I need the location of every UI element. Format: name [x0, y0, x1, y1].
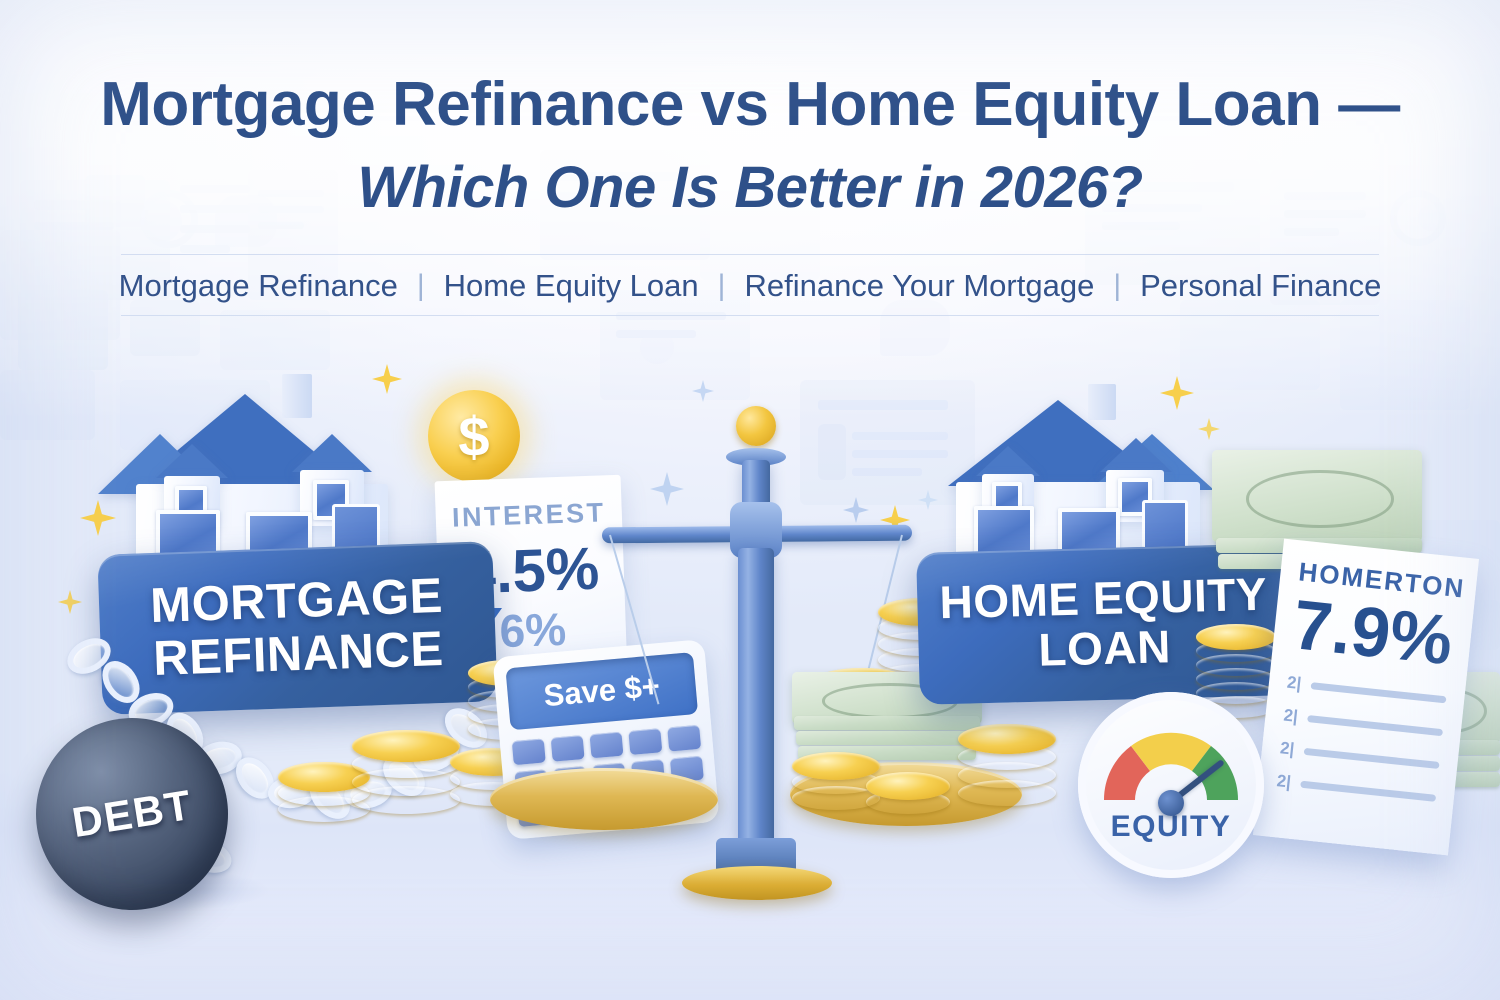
rate-document-row: 2|: [1276, 771, 1437, 808]
rate-row-tick: 2|: [1279, 738, 1295, 759]
tag-refinance-your-mortgage[interactable]: Refinance Your Mortgage: [725, 268, 1113, 304]
rate-document-row: 2|: [1286, 673, 1447, 710]
rate-row-bar: [1311, 682, 1447, 703]
page-title: Mortgage Refinance vs Home Equity Loan —…: [0, 62, 1500, 228]
tag-mortgage-refinance[interactable]: Mortgage Refinance: [100, 268, 417, 304]
title-line-1: Mortgage Refinance vs Home Equity Loan —: [100, 70, 1399, 139]
equity-gauge: EQUITY: [1078, 692, 1264, 878]
cash-bundle: [796, 731, 978, 745]
dollar-coin-icon: $: [428, 390, 520, 482]
calculator-key[interactable]: [512, 738, 546, 765]
rate-row-tick: 2|: [1276, 771, 1292, 792]
sparkle-icon: [80, 500, 116, 536]
sparkle-icon: [918, 490, 938, 510]
tag-personal-finance[interactable]: Personal Finance: [1121, 268, 1400, 304]
balance-scale: [620, 398, 920, 908]
title-line-2: Which One Is Better in 2026?: [0, 148, 1500, 228]
scale-column: [738, 548, 774, 846]
tag-separator: |: [1113, 269, 1121, 303]
scale-pan-left: [490, 768, 718, 830]
rate-row-tick: 2|: [1283, 706, 1299, 727]
calculator-key[interactable]: [551, 735, 585, 762]
rate-row-bar: [1304, 747, 1440, 768]
rate-document-row: 2|: [1283, 706, 1444, 743]
tag-separator: |: [417, 269, 425, 303]
rate-document-value: 7.9%: [1290, 589, 1456, 675]
hero-banner: Mortgage Refinance vs Home Equity Loan —…: [0, 0, 1500, 1000]
rate-row-bar: [1300, 780, 1436, 801]
scale-base: [682, 866, 832, 900]
calculator-key[interactable]: [589, 732, 623, 759]
tag-home-equity-loan[interactable]: Home Equity Loan: [425, 268, 718, 304]
home-equity-line2: LOAN: [1038, 622, 1172, 675]
debt-ball: DEBT: [36, 718, 228, 910]
rate-document: HOMERTON 7.9% 2| 2| 2| 2|: [1253, 539, 1479, 856]
rate-row-tick: 2|: [1286, 673, 1302, 694]
tag-separator: |: [718, 269, 726, 303]
cash-bundle: [794, 716, 980, 730]
debt-label: DEBT: [69, 781, 195, 847]
header: Mortgage Refinance vs Home Equity Loan —…: [0, 62, 1500, 316]
sparkle-icon: [1160, 376, 1194, 410]
gauge-arcs: [1078, 692, 1264, 878]
rate-row-bar: [1307, 715, 1443, 736]
dollar-symbol: $: [458, 404, 489, 469]
sparkle-icon: [1198, 418, 1220, 440]
tag-list: Mortgage Refinance | Home Equity Loan | …: [115, 268, 1385, 304]
home-equity-line1: HOME EQUITY: [939, 570, 1268, 628]
sparkle-icon: [372, 364, 402, 394]
rate-document-rows: 2| 2| 2| 2|: [1276, 673, 1448, 808]
interest-label: INTEREST: [452, 497, 607, 533]
tag-bar: Mortgage Refinance | Home Equity Loan | …: [115, 254, 1385, 316]
rate-document-row: 2|: [1279, 738, 1440, 775]
gauge-hub: [1158, 790, 1184, 816]
scale-finial-icon: [736, 406, 776, 446]
banknote-stack: [1212, 450, 1422, 542]
